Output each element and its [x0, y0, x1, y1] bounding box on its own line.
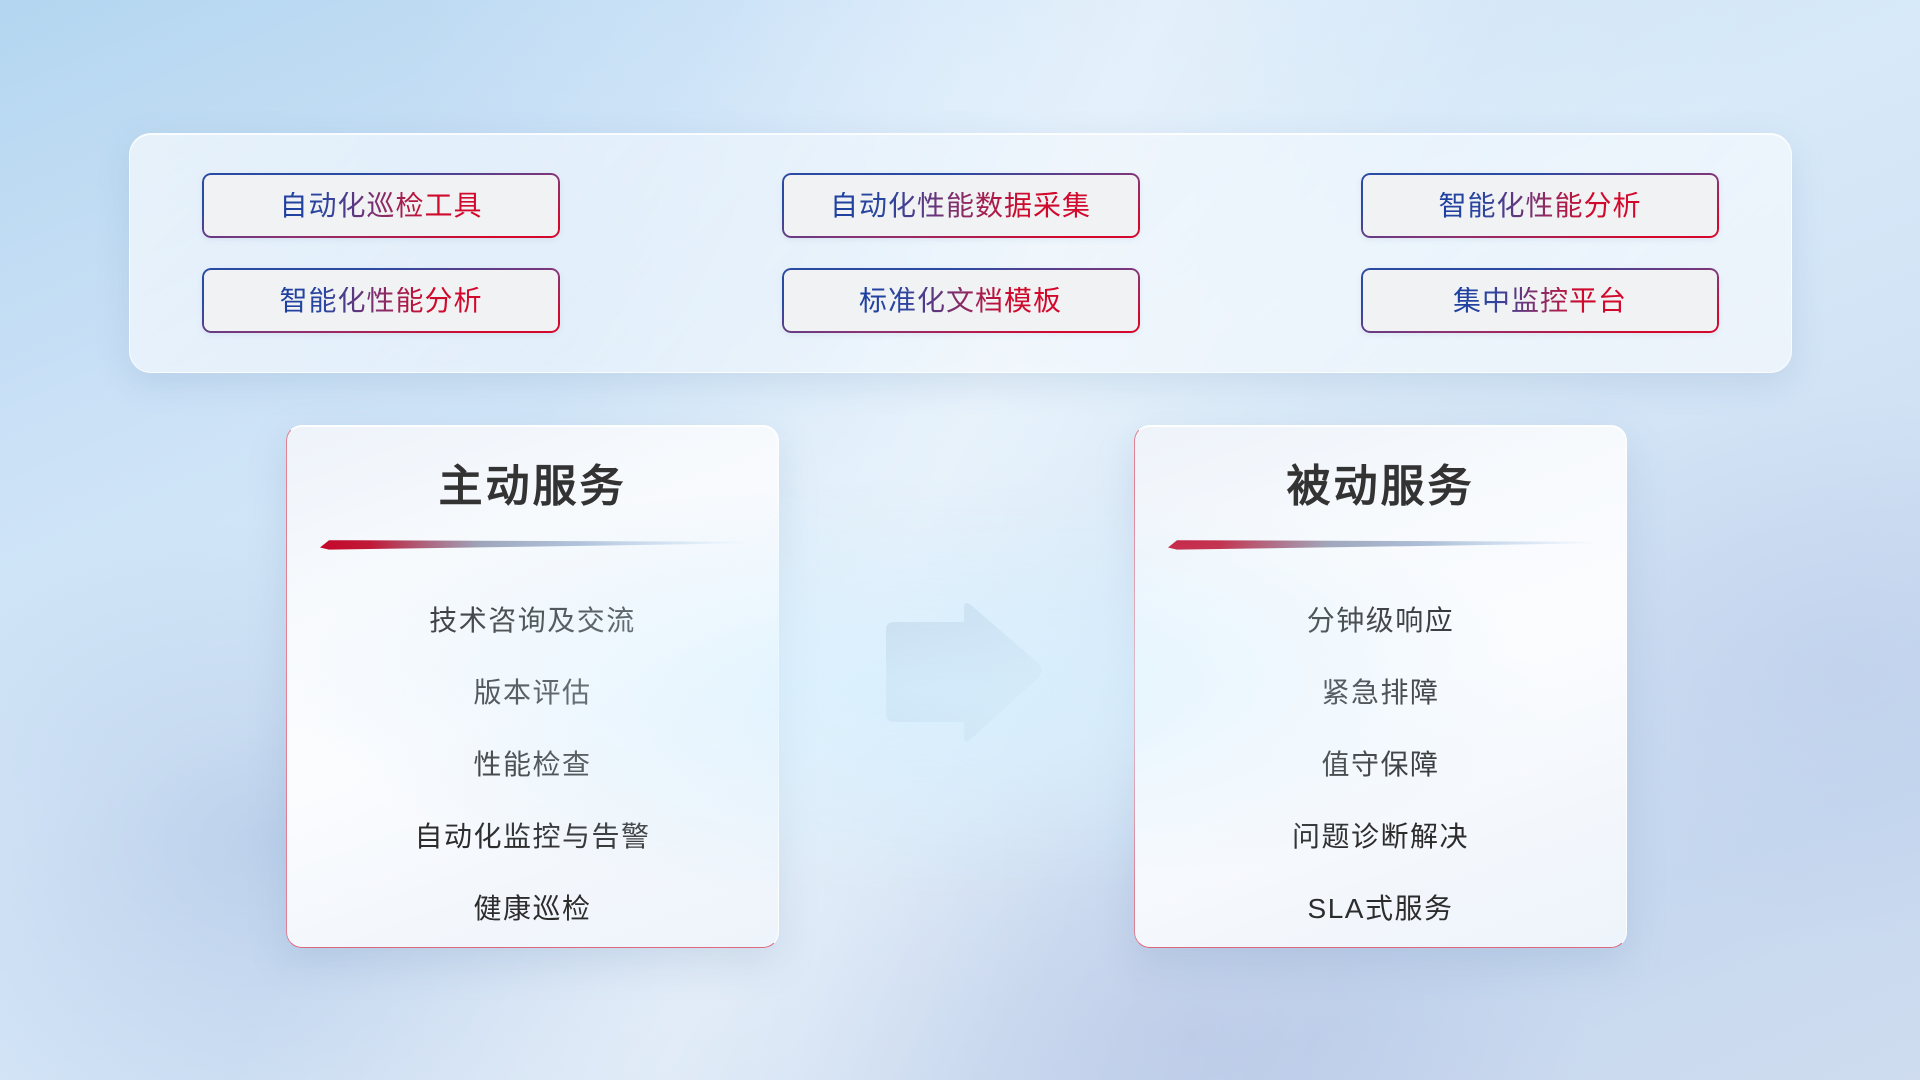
card-item: 分钟级响应 [1307, 585, 1455, 657]
card-item: 问题诊断解决 [1292, 801, 1469, 873]
card-item-list: 技术咨询及交流 版本评估 性能检查 自动化监控与告警 健康巡检 [287, 585, 778, 945]
card-title: 被动服务 [1135, 463, 1626, 511]
card-item: 版本评估 [473, 657, 591, 729]
card-item: 自动化监控与告警 [414, 801, 650, 873]
capability-tag-label: 智能化性能分析 [279, 287, 482, 315]
tag-row: 智能化性能分析 标准化文档模板 集中监控平台 [202, 268, 1719, 333]
card-item: 健康巡检 [473, 873, 591, 945]
right-arrow-icon [878, 600, 1044, 745]
capability-tag-label: 智能化性能分析 [1438, 192, 1641, 220]
capability-tag[interactable]: 标准化文档模板 [782, 268, 1140, 333]
card-item: 值守保障 [1321, 729, 1439, 801]
capability-tag-label: 标准化文档模板 [859, 287, 1062, 315]
capability-tag[interactable]: 集中监控平台 [1361, 268, 1719, 333]
capability-tag[interactable]: 智能化性能分析 [202, 268, 560, 333]
capability-tag[interactable]: 智能化性能分析 [1361, 173, 1719, 238]
service-card-reactive: 被动服务 分钟级响应 紧急排障 值守保障 [1134, 425, 1627, 948]
card-item: 技术咨询及交流 [429, 585, 636, 657]
capability-tag-label: 自动化巡检工具 [279, 192, 482, 220]
card-divider [1168, 537, 1593, 551]
card-item: SLA式服务 [1308, 873, 1454, 945]
diagram-canvas: 自动化巡检工具 自动化性能数据采集 智能化性能分析 智能化性能分析 标准化文档模… [0, 0, 1920, 1080]
card-item-list: 分钟级响应 紧急排障 值守保障 问题诊断解决 SLA式服务 [1135, 585, 1626, 945]
capability-tag-label: 集中监控平台 [1453, 287, 1627, 315]
card-divider [320, 537, 745, 551]
card-item: 性能检查 [473, 729, 591, 801]
card-title: 主动服务 [287, 463, 778, 511]
capability-tags-panel: 自动化巡检工具 自动化性能数据采集 智能化性能分析 智能化性能分析 标准化文档模… [129, 133, 1792, 373]
capability-tag[interactable]: 自动化性能数据采集 [782, 173, 1140, 238]
capability-tag-label: 自动化性能数据采集 [830, 192, 1091, 220]
service-card-proactive: 主动服务 技术咨询及交流 版本评估 性能检查 [286, 425, 779, 948]
capability-tag[interactable]: 自动化巡检工具 [202, 173, 560, 238]
tag-row: 自动化巡检工具 自动化性能数据采集 智能化性能分析 [202, 173, 1719, 238]
card-item: 紧急排障 [1321, 657, 1439, 729]
